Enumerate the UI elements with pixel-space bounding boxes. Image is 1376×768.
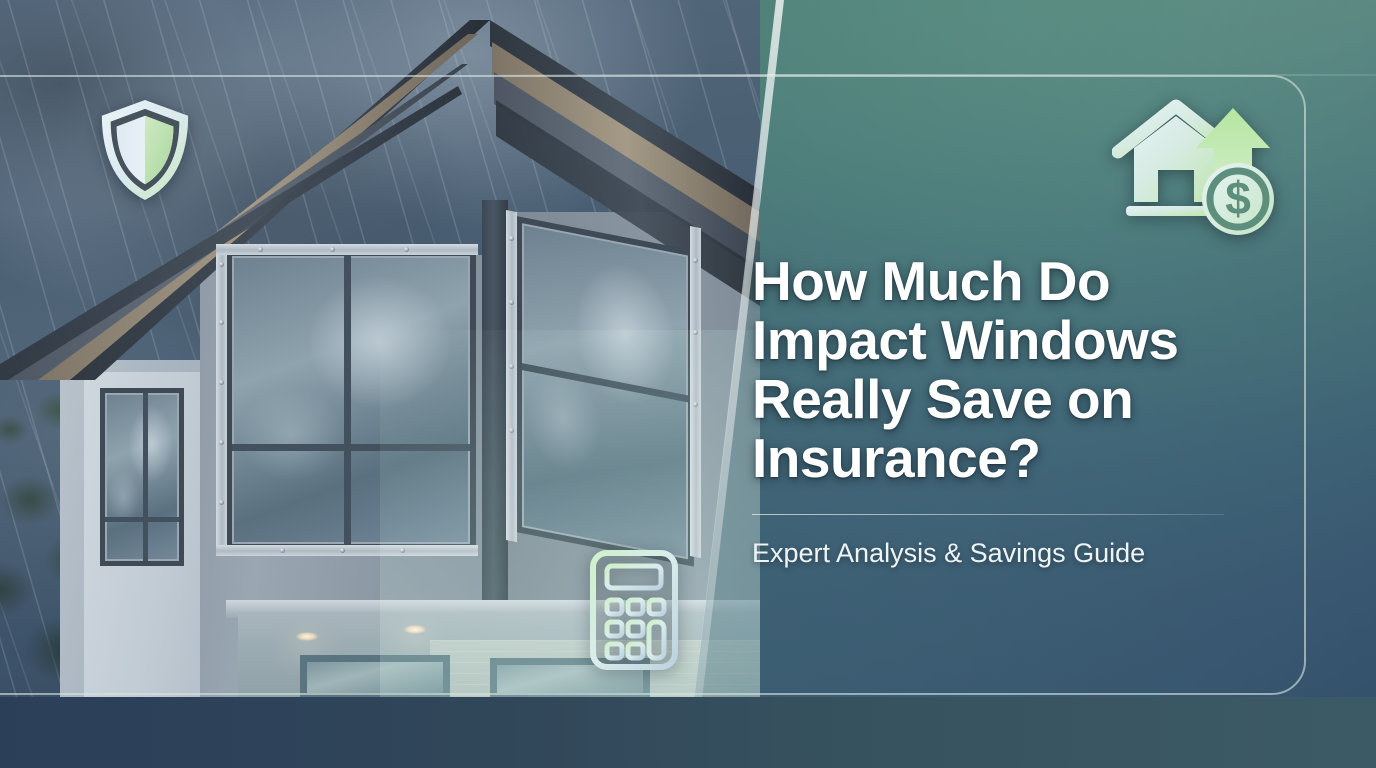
impact-frame-strip-left <box>216 244 227 556</box>
calculator-icon <box>588 548 680 672</box>
window-cloud-reflection <box>105 393 179 561</box>
subtitle: Expert Analysis & Savings Guide <box>752 537 1292 569</box>
impact-window-small-left <box>100 388 184 566</box>
window-mullion-horizontal <box>105 517 179 522</box>
window-mullion-vertical <box>143 393 148 561</box>
impact-bolt <box>509 300 514 305</box>
impact-bolt <box>219 262 224 267</box>
shield-icon <box>96 96 194 204</box>
title-divider <box>752 514 1224 515</box>
window-mullion-vertical <box>344 256 351 544</box>
impact-bolt <box>219 380 224 385</box>
impact-bolt <box>330 247 335 252</box>
impact-bolt <box>219 320 224 325</box>
impact-bolt <box>693 258 698 263</box>
house-money-growth-icon: $ <box>1112 96 1282 248</box>
photo-green-tint <box>380 330 760 700</box>
impact-bolt <box>509 236 514 241</box>
headline-block: How Much Do Impact Windows Really Save o… <box>752 252 1292 569</box>
impact-bolt <box>258 247 263 252</box>
impact-bolt <box>340 548 345 553</box>
svg-text:$: $ <box>1225 172 1251 224</box>
impact-bolt <box>219 500 224 505</box>
impact-bolt <box>404 247 409 252</box>
impact-frame-strip-top <box>216 244 478 255</box>
bottom-bar <box>0 697 1376 768</box>
impact-bolt <box>280 548 285 553</box>
impact-bolt <box>219 440 224 445</box>
hero-banner: How Much Do Impact Windows Really Save o… <box>0 0 1376 768</box>
recessed-downlight <box>296 632 318 641</box>
page-title: How Much Do Impact Windows Really Save o… <box>752 252 1292 488</box>
